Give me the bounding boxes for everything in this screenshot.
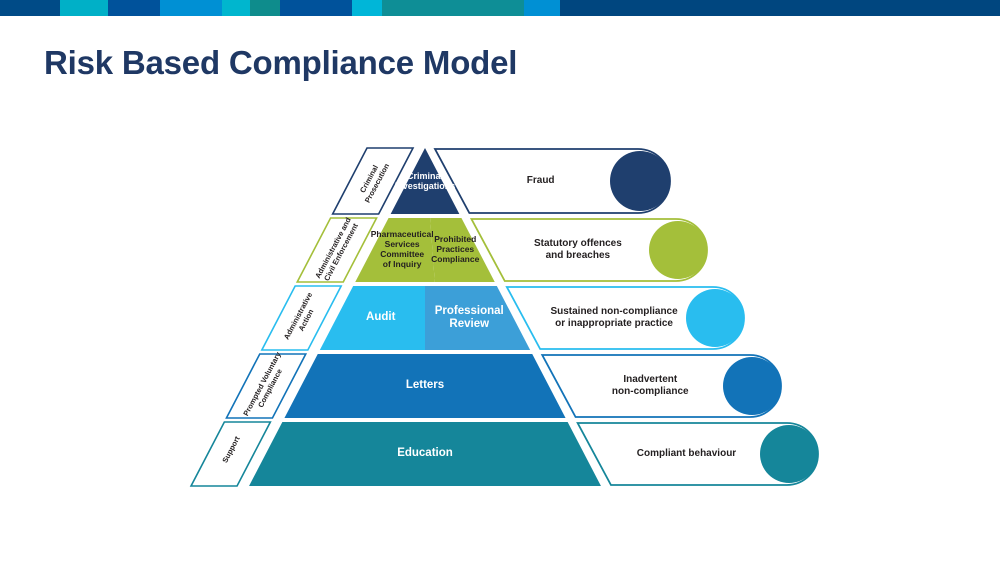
- top-bar-segment-1: [0, 0, 60, 16]
- top-bar-segment-10: [524, 0, 560, 16]
- callout-2-text: Statutory offences and breaches: [511, 219, 645, 281]
- callout-1-text: Fraud: [475, 149, 606, 213]
- top-bar-segment-4: [160, 0, 222, 16]
- decorative-top-bar: [0, 0, 1000, 16]
- callout-3-text: Sustained non-compliance or inappropriat…: [546, 287, 682, 349]
- top-bar-segment-8: [352, 0, 382, 16]
- top-bar-segment-7: [280, 0, 352, 16]
- top-bar-segment-5: [222, 0, 250, 16]
- top-bar-segment-2: [60, 0, 108, 16]
- callout-5-text: Compliant behaviour: [617, 423, 756, 485]
- callout-4-text: Inadvertent non-compliance: [582, 355, 719, 417]
- top-bar-segment-6: [250, 0, 280, 16]
- top-bar-segment-3: [108, 0, 160, 16]
- page-title: Risk Based Compliance Model: [44, 44, 517, 82]
- top-bar-segment-11: [560, 0, 1000, 16]
- top-bar-segment-9: [382, 0, 524, 16]
- risk-based-compliance-pyramid: Criminal InvestigationsCriminal Prosecut…: [0, 110, 1000, 530]
